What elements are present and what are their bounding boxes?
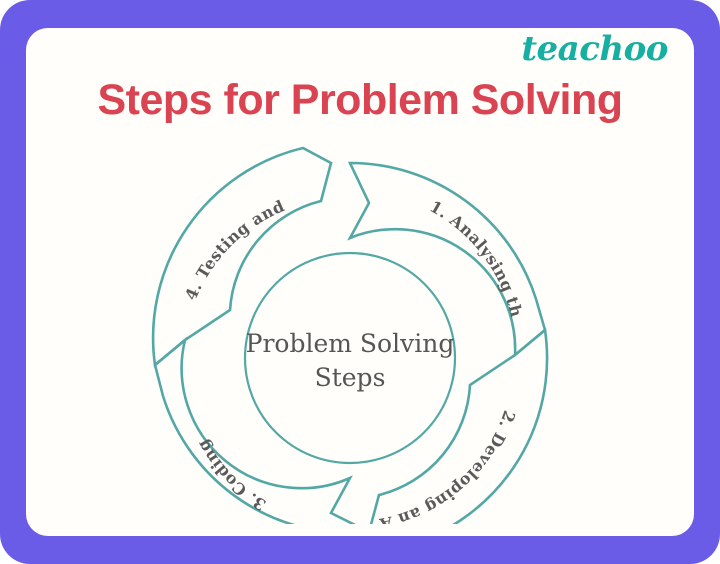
teachoo-logo: teachoo <box>521 32 668 66</box>
center-label-line-2: Steps <box>315 363 386 392</box>
problem-solving-cycle-diagram: 1. Analysing the Problem 2. Developing a… <box>26 124 694 524</box>
segment-label-step-3-text: 3. Coding <box>193 436 269 514</box>
segment-label-step-2: 2. Developing an Algorithm <box>26 124 519 524</box>
segment-label-step-2-text: 2. Developing an Algorithm <box>26 124 519 524</box>
segment-label-step-3: 3. Coding <box>193 436 269 514</box>
page-title: Steps for Problem Solving <box>26 76 694 125</box>
center-label-line-1: Problem Solving <box>246 329 455 358</box>
poster-card: teachoo Steps for Problem Solving <box>26 28 694 536</box>
segment-shape-step-1 <box>350 163 545 355</box>
poster-frame: teachoo Steps for Problem Solving <box>0 0 720 564</box>
inner-hub-circle <box>245 253 455 463</box>
segment-label-step-4: 4. Testing and Debugging <box>26 124 293 303</box>
segment-label-step-4-text: 4. Testing and Debugging <box>26 124 293 303</box>
